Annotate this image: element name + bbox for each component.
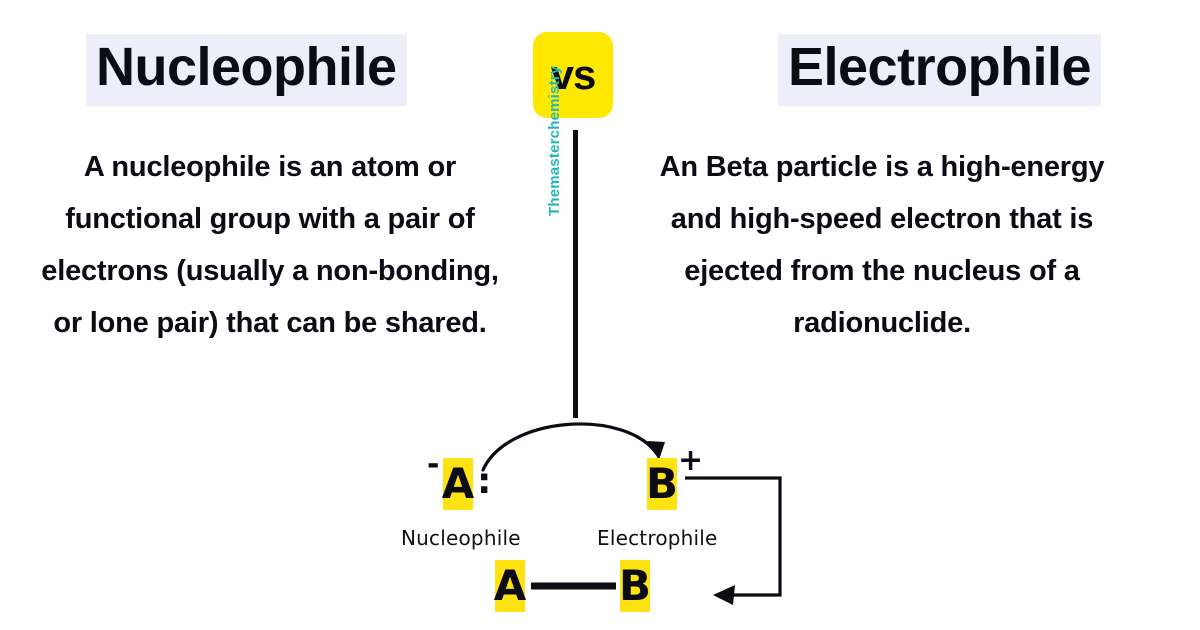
product-atom-a: A	[495, 560, 525, 612]
watermark-label: Themasterchemistry	[546, 36, 566, 216]
reaction-loop-arrowhead	[713, 585, 735, 605]
vs-badge: vs	[533, 32, 613, 118]
diagram-label-nucleophile: Nucleophile	[401, 526, 521, 550]
infographic-canvas: Nucleophile vs Electrophile Themasterche…	[0, 0, 1200, 630]
diagram-label-electrophile: Electrophile	[597, 526, 718, 550]
electron-flow-arrow-curve	[483, 424, 657, 470]
lone-pair-dots: :	[477, 464, 491, 500]
page-title-left: Nucleophile	[86, 34, 407, 106]
vertical-divider	[573, 130, 578, 418]
description-right: An Beta particle is a high-energy and hi…	[636, 142, 1128, 350]
page-title-right: Electrophile	[778, 34, 1101, 106]
nucleophile-negative-charge: -	[427, 450, 439, 480]
electrophile-positive-charge: +	[678, 446, 703, 476]
description-left: A nucleophile is an atom or functional g…	[24, 142, 516, 350]
reaction-arrows-svg	[395, 408, 815, 630]
product-atom-b: B	[620, 560, 650, 612]
nucleophile-atom: A	[443, 458, 473, 510]
reaction-diagram: - A : B + Nucleophile Electrophile A B	[395, 408, 815, 630]
electrophile-atom: B	[647, 458, 677, 510]
